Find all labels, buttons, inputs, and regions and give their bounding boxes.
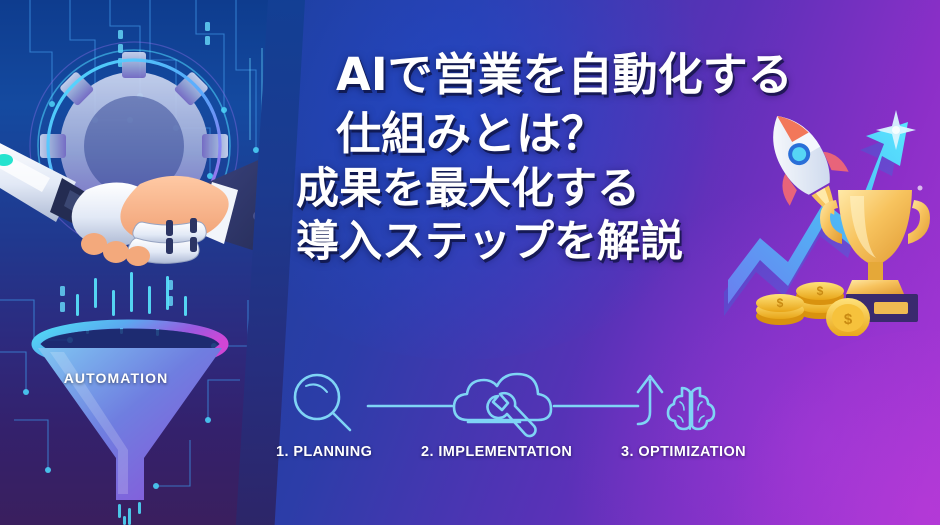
svg-text:$: $ (777, 296, 784, 310)
cloud-wrench-icon (454, 374, 551, 436)
promotional-banner: AUTOMATION AIで営業を自動化する 仕組みとは？ 成果を最大化する 導… (0, 0, 940, 525)
brain-icon (668, 388, 714, 429)
process-steps-icons (276, 362, 746, 440)
magnifier-icon (295, 375, 350, 430)
step-label-optimization: 3. OPTIMIZATION (621, 444, 746, 460)
svg-text:$: $ (844, 311, 853, 328)
left-illustration-panel: AUTOMATION (0, 0, 268, 525)
robot-human-handshake (0, 86, 268, 286)
process-steps: 1. PLANNING 2. IMPLEMENTATION 3. OPTIMIZ… (276, 362, 746, 482)
step-label-implementation: 2. IMPLEMENTATION (421, 444, 572, 460)
arrow-up-brain-icon (638, 376, 714, 429)
headline-line-1: AIで営業を自動化する (336, 52, 896, 97)
automation-funnel (20, 272, 240, 525)
automation-funnel-label: AUTOMATION (0, 370, 232, 386)
background-glow-magenta (720, 330, 940, 525)
step-label-planning: 1. PLANNING (276, 444, 372, 460)
svg-text:$: $ (817, 284, 824, 298)
right-illustration-group: $ $ $ (724, 104, 940, 336)
process-steps-labels: 1. PLANNING 2. IMPLEMENTATION 3. OPTIMIZ… (276, 444, 746, 460)
